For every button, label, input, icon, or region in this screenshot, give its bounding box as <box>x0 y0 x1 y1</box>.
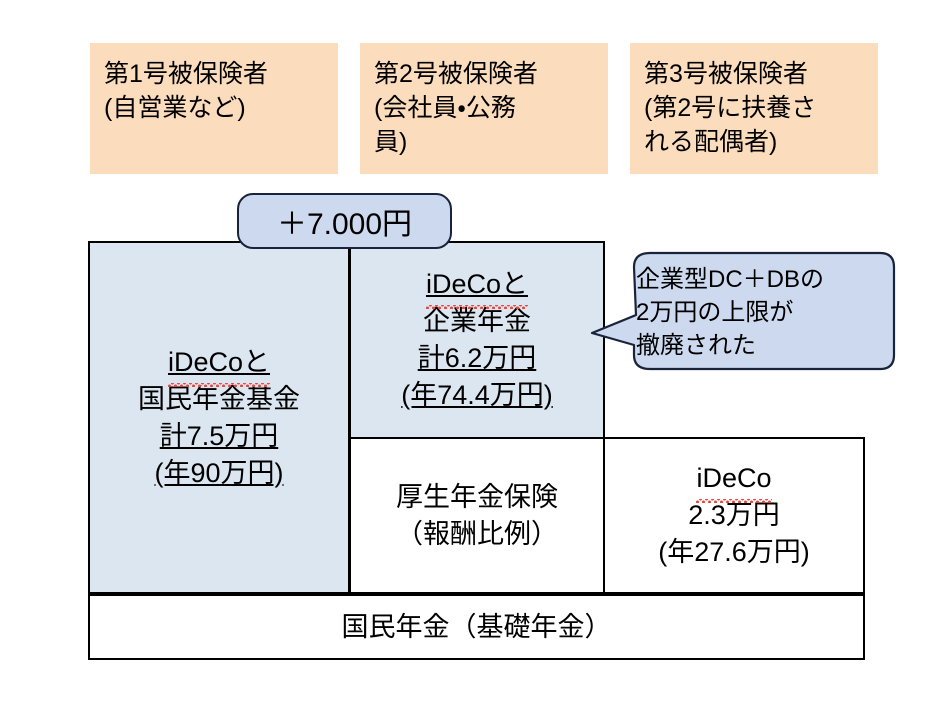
cell-right-line3: (年27.6万円) <box>605 534 863 571</box>
cell-ideco-kigyou-nenkin: iDeCoと 企業年金 計6.2万円 (年74.4万円) <box>349 241 605 439</box>
annotation-bubble-text: 企業型DC＋DBの 2万円の上限が 撤廃された <box>636 263 854 362</box>
cell-kokumin-nenkin-base: 国民年金（基礎年金） <box>88 594 865 660</box>
cell-base-line1: 国民年金（基礎年金） <box>90 609 863 646</box>
cell-center-top-line3: 計6.2万円 <box>351 340 603 377</box>
cell-left-line4: (年90万円) <box>90 455 348 492</box>
header-box-tier2: 第2号被保険者 (会社員・公務 員) <box>360 43 608 174</box>
cell-center-bottom-line2: （報酬比例） <box>351 516 603 553</box>
diagram-canvas: 第1号被保険者 (自営業など) 第2号被保険者 (会社員・公務 員) 第3号被保… <box>0 0 928 701</box>
cell-left-line1: iDeCoと <box>90 344 348 381</box>
cell-center-bottom-line1: 厚生年金保険 <box>351 479 603 516</box>
cell-kousei-nenkin-hoken: 厚生年金保険 （報酬比例） <box>349 437 605 594</box>
callout-increase-amount: ＋7.000円 <box>237 193 452 249</box>
cell-right-line1: iDeCo <box>605 460 863 497</box>
callout-label: ＋7.000円 <box>277 199 412 243</box>
cell-ideco-tier3: iDeCo 2.3万円 (年27.6万円) <box>603 437 865 594</box>
cell-left-line3: 計7.5万円 <box>90 418 348 455</box>
header-box-tier1: 第1号被保険者 (自営業など) <box>90 43 338 174</box>
annotation-bubble: 企業型DC＋DBの 2万円の上限が 撤廃された <box>588 247 900 377</box>
cell-center-top-line4: (年74.4万円) <box>351 377 603 414</box>
header-box-tier3: 第3号被保険者 (第2号に扶養さ れる配偶者) <box>630 43 878 174</box>
cell-center-top-line1: iDeCoと <box>351 266 603 303</box>
cell-ideco-kokumin-nenkin-kikin: iDeCoと 国民年金基金 計7.5万円 (年90万円) <box>88 241 350 594</box>
